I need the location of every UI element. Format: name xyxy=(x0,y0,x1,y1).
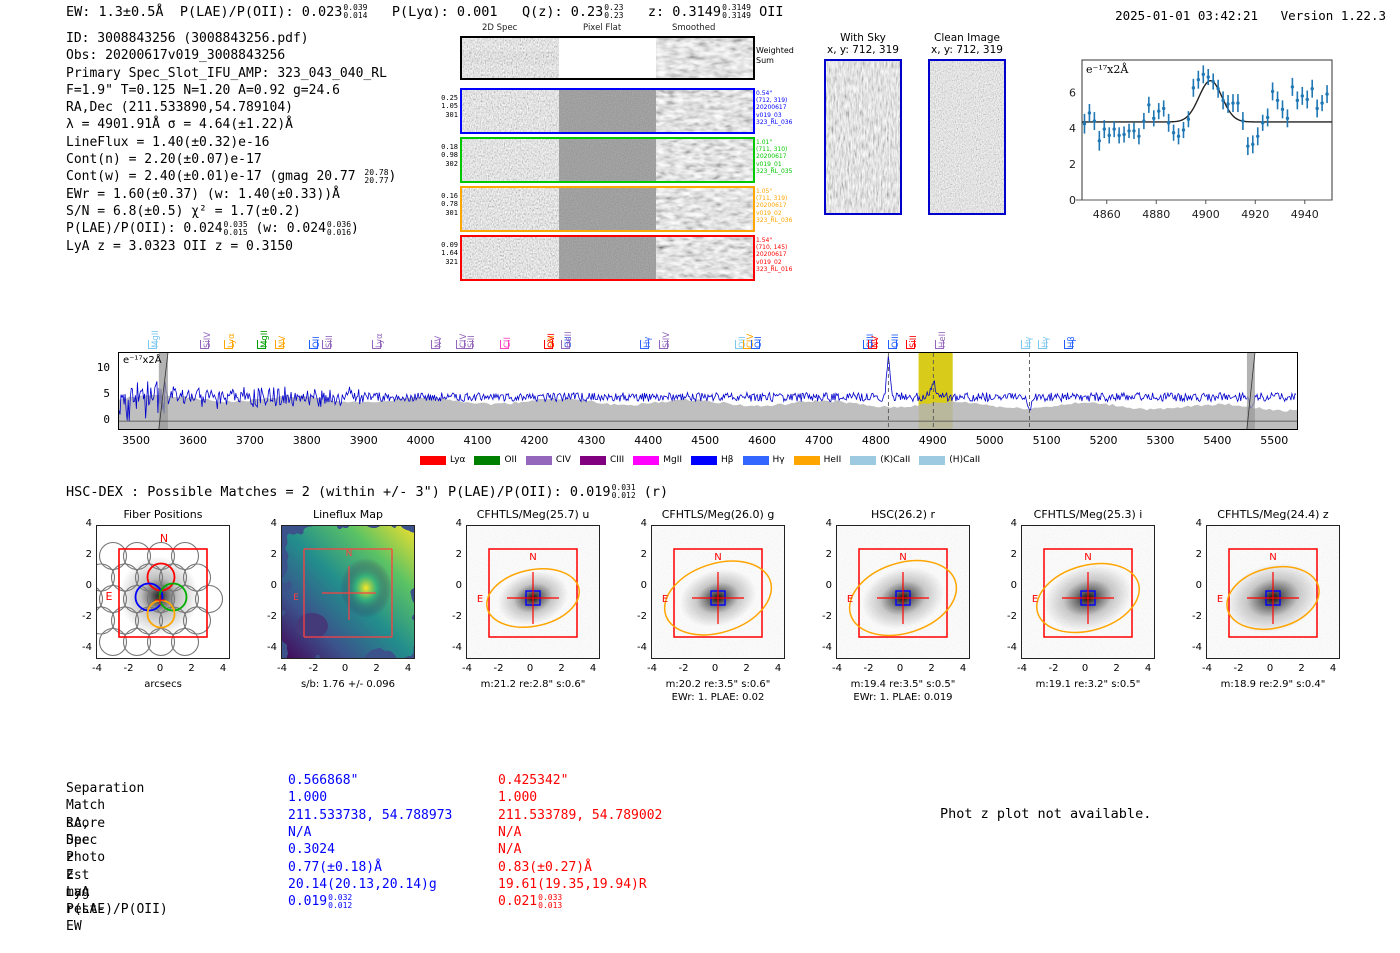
emission-line-bracket xyxy=(500,340,509,349)
fiber-meta-label: 0.54" xyxy=(756,90,792,97)
legend-item: Hβ xyxy=(691,455,734,465)
fiber-rows-container: 0.251.053010.54"(712, 319)20200617v019_0… xyxy=(460,88,755,281)
emission-line-bracket xyxy=(1038,340,1047,349)
spectrum-xtick: 3700 xyxy=(230,434,270,447)
cutout-xtick: -2 xyxy=(856,663,882,674)
header-z-label: z: xyxy=(648,4,664,20)
version: Version 1.22.3 xyxy=(1281,8,1386,23)
fiber-2dspec-3 xyxy=(462,188,559,230)
pixelflat-sum-blank xyxy=(559,38,656,78)
info-line-contw: Cont(w) = 2.40(±0.01)e-17 (gmag 20.77 20… xyxy=(66,168,396,185)
fiber-left-labels-4: 0.091.64321 xyxy=(441,241,458,266)
cutout-panel-5[interactable]: HSC(26.2) rNE420-2-4-4-2024m:19.4 re:3.5… xyxy=(808,508,973,521)
cutout-xtick: 0 xyxy=(517,663,543,674)
svg-text:4940: 4940 xyxy=(1291,208,1319,221)
cutout-panel-7[interactable]: CFHTLS/Meg(24.4) zNE420-2-4-4-2024m:18.9… xyxy=(1178,508,1343,521)
cutout-xtick: 2 xyxy=(734,663,760,674)
svg-text:E: E xyxy=(477,594,483,605)
cutout-ytick: 4 xyxy=(993,518,1017,529)
cutout-xtick: -4 xyxy=(84,663,110,674)
svg-text:N: N xyxy=(899,552,906,563)
cutout-xtick: -2 xyxy=(116,663,142,674)
cutout-xtick: -4 xyxy=(454,663,480,674)
noise-2dspec-sum xyxy=(462,38,559,78)
cutout-xtick: 4 xyxy=(395,663,421,674)
info-line-redshifts: LyA z = 3.0323 OII z = 0.3150 xyxy=(66,238,396,255)
fiber-pixelflat-2 xyxy=(559,139,656,181)
spectrum-xtick: 5500 xyxy=(1254,434,1294,447)
cutout-ytick: 0 xyxy=(993,580,1017,591)
cutout-image[interactable]: NE xyxy=(836,525,970,659)
legend-label: Hγ xyxy=(773,455,785,465)
match-plae-value: 0.021 xyxy=(498,894,537,909)
info-line-lineflux: LineFlux = 1.40(±0.32)e-16 xyxy=(66,134,396,151)
cutout-ytick: -2 xyxy=(808,611,832,622)
match-plae-value: 0.019 xyxy=(288,894,327,909)
withsky-coords: x, y: 712, 319 xyxy=(824,44,902,56)
spectrum-xtick: 4500 xyxy=(685,434,725,447)
emission-line-bracket xyxy=(322,340,331,349)
cutout-xtick: -4 xyxy=(824,663,850,674)
legend-swatch xyxy=(580,456,606,465)
emission-line-bracket xyxy=(464,340,473,349)
info-line-plae: P(LAE)/P(OII): 0.0240.0350.015 (w: 0.024… xyxy=(66,220,396,237)
svg-text:2: 2 xyxy=(1069,158,1076,171)
fiber-meta-label: 20200617 xyxy=(756,251,792,258)
cutout-title: CFHTLS/Meg(25.3) i xyxy=(1021,508,1155,521)
fiber-smoothed-2 xyxy=(656,139,753,181)
spectrum-xtick: 4000 xyxy=(401,434,441,447)
cutout-xtick: 0 xyxy=(702,663,728,674)
cutout-xtick: -2 xyxy=(1041,663,1067,674)
cutout-panel-3[interactable]: CFHTLS/Meg(25.7) uNE420-2-4-4-2024m:21.2… xyxy=(438,508,603,521)
svg-text:E: E xyxy=(106,590,113,603)
fiber-left-labels-1: 0.251.05301 xyxy=(441,94,458,119)
svg-text:4900: 4900 xyxy=(1192,208,1220,221)
info-line-ewr: EWr = 1.60(±0.37) (w: 1.40(±0.33))Å xyxy=(66,186,396,203)
match-row-value: 0.77(±0.18)Å xyxy=(288,859,382,876)
cutout-image[interactable]: NE xyxy=(1206,525,1340,659)
fiber-pixelflat-4 xyxy=(559,237,656,279)
cutout-xtick: 0 xyxy=(887,663,913,674)
fiber-right-labels-4: 1.54"(710, 145)20200617v019_02323_RL_016 xyxy=(756,237,792,273)
info-line-sn: S/N = 6.8(±0.5) χ² = 1.7(±0.2) xyxy=(66,203,396,220)
lineplot-units: e⁻¹⁷x2Å xyxy=(1086,62,1129,76)
svg-text:E: E xyxy=(662,594,668,605)
fiber-left-label: 302 xyxy=(441,160,458,168)
emission-line-bracket xyxy=(751,340,760,349)
legend-item: HeII xyxy=(794,455,842,465)
fiber-row-2: 0.180.983021.01"(711, 310)20200617v019_0… xyxy=(460,137,755,183)
info-line-obs: Obs: 20200617v019_3008843256 xyxy=(66,47,396,64)
spectrum-xtick: 4200 xyxy=(514,434,554,447)
header-z-value: 0.3149 xyxy=(672,4,721,20)
match-row-value: 0.0190.0320.012 xyxy=(288,893,352,910)
emission-line-labels: MgIISiIVLyαMgIINVOIISiIILyαNVCIVSiIICIIS… xyxy=(0,282,1400,354)
cutout-ytick: -2 xyxy=(993,611,1017,622)
spectrum-xtick: 3900 xyxy=(344,434,384,447)
cutout-image[interactable]: NE xyxy=(96,525,230,659)
emission-line-bracket xyxy=(200,340,209,349)
line-fit-plot: 024648604880490049204940e⁻¹⁷x2Å xyxy=(1040,48,1340,223)
fiber-right-labels-3: 1.05"(711, 319)20200617v019_02323_RL_036 xyxy=(756,188,792,224)
fiber-left-label: 321 xyxy=(441,258,458,266)
spectrum-xtick: 4400 xyxy=(628,434,668,447)
cleanimage-image xyxy=(928,59,1006,215)
fiber-meta-label: v019_02 xyxy=(756,210,792,217)
cutout-ytick: -4 xyxy=(438,642,462,653)
fiber-meta-label: (711, 310) xyxy=(756,146,792,153)
fiber-2dspec-4 xyxy=(462,237,559,279)
cutout-ytick: 2 xyxy=(253,549,277,560)
cutout-ytick: 2 xyxy=(993,549,1017,560)
emission-line-bracket xyxy=(257,340,266,349)
withsky-title: With Sky xyxy=(824,32,902,44)
cutout-ytick: 2 xyxy=(438,549,462,560)
legend-label: (H)CaII xyxy=(949,455,980,465)
col-header-smoothed: Smoothed xyxy=(672,23,715,33)
match-row-value: 20.14(20.13,20.14)g xyxy=(288,876,437,893)
legend-swatch xyxy=(633,456,659,465)
cutout-xtick: 2 xyxy=(364,663,390,674)
cutout-ytick: 0 xyxy=(808,580,832,591)
svg-text:N: N xyxy=(160,532,168,545)
weighted-sum-label-1: Weighted xyxy=(756,46,794,56)
fiber-smoothed-4 xyxy=(656,237,753,279)
cutout-xtick: 0 xyxy=(1072,663,1098,674)
fiber-meta-label: 20200617 xyxy=(756,104,792,111)
svg-text:4860: 4860 xyxy=(1093,208,1121,221)
fiber-meta-label: (710, 145) xyxy=(756,244,792,251)
legend-label: CIV xyxy=(556,455,571,465)
hscdex-summary: HSC-DEX : Possible Matches = 2 (within +… xyxy=(66,484,668,500)
cutout-ytick: 4 xyxy=(253,518,277,529)
cutout-xtick: -4 xyxy=(269,663,295,674)
spectrum-xtick: 4600 xyxy=(742,434,782,447)
spectrum-ytick: 10 xyxy=(97,361,110,374)
cutout-ytick: -2 xyxy=(438,611,462,622)
spectrum-xtick: 3500 xyxy=(116,434,156,447)
legend-swatch xyxy=(743,456,769,465)
cutout-xtick: 4 xyxy=(765,663,791,674)
info-line-slot: Primary Spec_Slot_IFU_AMP: 323_043_040_R… xyxy=(66,65,396,82)
emission-line-bracket xyxy=(906,340,915,349)
fiber-pixelflat-3 xyxy=(559,188,656,230)
fiber-meta-label: (712, 319) xyxy=(756,97,792,104)
cutout-image[interactable]: NE xyxy=(281,525,415,659)
cutout-title: CFHTLS/Meg(24.4) z xyxy=(1206,508,1340,521)
info-line-contn: Cont(n) = 2.20(±0.07)e-17 xyxy=(66,151,396,168)
spectrum-x-axis: 3500360037003800390040004100420043004400… xyxy=(0,432,1400,450)
cutout-xtick: -4 xyxy=(639,663,665,674)
spectrum-xtick: 5300 xyxy=(1140,434,1180,447)
fiber-left-label: 0.25 xyxy=(441,94,458,102)
cutout-xtick: 0 xyxy=(147,663,173,674)
timestamp: 2025-01-01 03:42:21 xyxy=(1115,8,1258,23)
svg-text:N: N xyxy=(529,552,536,563)
header-ew: EW: 1.3±0.5Å xyxy=(66,4,164,20)
spectrum-xtick: 3600 xyxy=(173,434,213,447)
fiber-meta-label: 323_RL_035 xyxy=(756,168,792,175)
legend-swatch xyxy=(919,456,945,465)
header-plae-value: 0.023 xyxy=(302,4,343,20)
fiber-pixelflat-1 xyxy=(559,90,656,132)
source-info-block: ID: 3008843256 (3008843256.pdf) Obs: 202… xyxy=(66,30,396,255)
header-z-lo: 0.3149 xyxy=(722,12,751,20)
cutout-title: HSC(26.2) r xyxy=(836,508,970,521)
header-qz-lo: 0.23 xyxy=(604,12,623,20)
emission-line-bracket xyxy=(640,340,649,349)
cutout-ytick: 4 xyxy=(623,518,647,529)
fiber-smoothed-3 xyxy=(656,188,753,230)
cutout-xtick: -4 xyxy=(1194,663,1220,674)
cleanimage-thumb: Clean Image x, y: 712, 319 xyxy=(928,32,1006,215)
fiber-meta-label: 1.05" xyxy=(756,188,792,195)
svg-text:E: E xyxy=(847,594,853,605)
match-row-value: N/A xyxy=(498,824,521,841)
cutout-ytick: 0 xyxy=(1178,580,1202,591)
timestamp-version: 2025-01-01 03:42:21 Version 1.22.3 xyxy=(1115,8,1386,23)
cutout-caption: m:20.2 re:3.5" s:0.6" xyxy=(623,679,813,691)
cutout-title: Lineflux Map xyxy=(281,508,415,521)
legend-label: OII xyxy=(504,455,516,465)
cutout-caption: s/b: 1.76 +/- 0.096 xyxy=(253,679,443,691)
cutout-panel-1[interactable]: Fiber PositionsNE420-2-4-4-2024arcsecs xyxy=(68,508,233,521)
fiber-meta-label: 1.54" xyxy=(756,237,792,244)
cutout-ytick: -4 xyxy=(623,642,647,653)
cutout-xtick: -2 xyxy=(671,663,697,674)
cutout-xtick: -4 xyxy=(1009,663,1035,674)
full-spectrum-plot: e⁻¹⁷x2Å xyxy=(118,352,1298,430)
cutout-xtick: 4 xyxy=(210,663,236,674)
legend-item: CIII xyxy=(580,455,624,465)
header-plae-label: P(LAE)/P(OII): xyxy=(180,4,294,20)
legend-swatch xyxy=(420,456,446,465)
hscdex-value: 0.019 xyxy=(570,484,611,500)
emission-line-bracket xyxy=(309,340,318,349)
svg-text:N: N xyxy=(1084,552,1091,563)
spectrum-xtick: 4100 xyxy=(458,434,498,447)
legend-label: Hβ xyxy=(721,455,734,465)
spectrum-xtick: 5000 xyxy=(970,434,1010,447)
svg-text:N: N xyxy=(714,552,721,563)
fiber-left-labels-2: 0.180.98302 xyxy=(441,143,458,168)
svg-text:4880: 4880 xyxy=(1142,208,1170,221)
emission-line-bracket xyxy=(1021,340,1030,349)
cutout-xtick: 0 xyxy=(332,663,358,674)
hscdex-prefix: HSC-DEX : Possible Matches = 2 (within +… xyxy=(66,484,570,500)
fiber-left-label: 1.64 xyxy=(441,249,458,257)
cutout-ytick: -4 xyxy=(1178,642,1202,653)
cutout-ytick: 4 xyxy=(68,518,92,529)
cutout-panel-2[interactable]: Lineflux MapNE420-2-4-4-2024s/b: 1.76 +/… xyxy=(253,508,418,521)
legend-item: OII xyxy=(474,455,516,465)
col-header-2dspec: 2D Spec xyxy=(482,23,517,33)
fiber-meta-label: 323_RL_036 xyxy=(756,217,792,224)
spectrum-y-axis: 0510 xyxy=(86,352,114,430)
svg-text:4920: 4920 xyxy=(1241,208,1269,221)
hscdex-suffix: (r) xyxy=(636,484,669,500)
fiber-2dspec-1 xyxy=(462,90,559,132)
fiber-left-label: 0.18 xyxy=(441,143,458,151)
fiber-meta-label: v019_02 xyxy=(756,259,792,266)
cutout-caption: m:21.2 re:2.8" s:0.6" xyxy=(438,679,628,691)
twod-spectrum-panel: 2D Spec Pixel Flat Smoothed Weighted Sum… xyxy=(460,36,755,284)
fiber-2dspec-2 xyxy=(462,139,559,181)
cutout-ytick: 4 xyxy=(438,518,462,529)
cutout-ytick: 2 xyxy=(808,549,832,560)
cutout-xtick: 4 xyxy=(580,663,606,674)
cutout-image[interactable]: NE xyxy=(466,525,600,659)
emission-line-bracket xyxy=(148,340,157,349)
header-plya: P(Lyα): 0.001 xyxy=(392,4,498,20)
emission-line-bracket xyxy=(544,340,553,349)
match-row-value: 211.533738, 54.788973 xyxy=(288,807,452,824)
fiber-meta-label: 20200617 xyxy=(756,153,792,160)
legend-item: (K)CaII xyxy=(850,455,910,465)
legend-label: CIII xyxy=(610,455,624,465)
info-line-params: F=1.9" T=0.125 N=1.20 A=0.92 g=24.6 xyxy=(66,82,396,99)
legend-label: Lyα xyxy=(450,455,465,465)
cutout-title: CFHTLS/Meg(25.7) u xyxy=(466,508,600,521)
match-row-value: 211.533789, 54.789002 xyxy=(498,807,662,824)
cutout-xtick: 0 xyxy=(1257,663,1283,674)
cutout-image[interactable]: NE xyxy=(651,525,785,659)
withsky-image xyxy=(824,59,902,215)
withsky-thumb: With Sky x, y: 712, 319 xyxy=(824,32,902,215)
fiber-row-3: 0.160.783011.05"(711, 319)20200617v019_0… xyxy=(460,186,755,232)
header-z-type: OII xyxy=(759,4,783,20)
col-header-pixelflat: Pixel Flat xyxy=(583,23,621,33)
info-line-lambda: λ = 4901.91Å σ = 4.64(±1.22)Å xyxy=(66,116,396,133)
cutout-caption-2: EWr: 1. PLAE: 0.02 xyxy=(623,692,813,704)
spectrum-xtick: 4800 xyxy=(856,434,896,447)
match-row-label: P(LAE)/P(OII) xyxy=(66,901,168,918)
legend-item: CIV xyxy=(526,455,571,465)
match-row-value: 0.3024 xyxy=(288,841,335,858)
legend-label: MgII xyxy=(663,455,682,465)
fiber-row-1: 0.251.053010.54"(712, 319)20200617v019_0… xyxy=(460,88,755,134)
fiber-left-label: 0.09 xyxy=(441,241,458,249)
cutout-xtick: 2 xyxy=(179,663,205,674)
info-line-id: ID: 3008843256 (3008843256.pdf) xyxy=(66,30,396,47)
header-qz-value: 0.23 xyxy=(571,4,604,20)
summary-header: EW: 1.3±0.5Å P(LAE)/P(OII): 0.0230.0390.… xyxy=(66,4,784,20)
cutout-caption: m:19.4 re:3.5" s:0.5" xyxy=(808,679,998,691)
spectrum-legend: LyαOIICIVCIIIMgIIHβHγHeII(K)CaII(H)CaII xyxy=(420,455,980,465)
cutout-xtick: 2 xyxy=(1104,663,1130,674)
fiber-meta-label: (711, 319) xyxy=(756,195,792,202)
match-row-value: 0.566868" xyxy=(288,772,358,789)
match-row-value: 0.0210.0330.013 xyxy=(498,893,562,910)
cutout-xtick: 4 xyxy=(1135,663,1161,674)
fiber-meta-label: 323_RL_036 xyxy=(756,119,792,126)
legend-item: Lyα xyxy=(420,455,465,465)
cutout-ytick: 0 xyxy=(623,580,647,591)
match-row-value: N/A xyxy=(498,841,521,858)
cleanimage-coords: x, y: 712, 319 xyxy=(928,44,1006,56)
svg-text:E: E xyxy=(293,593,299,603)
legend-item: (H)CaII xyxy=(919,455,980,465)
cutout-title: CFHTLS/Meg(26.0) g xyxy=(651,508,785,521)
legend-swatch xyxy=(691,456,717,465)
cutout-xtick: -2 xyxy=(1226,663,1252,674)
svg-text:E: E xyxy=(1032,594,1038,605)
fiber-smoothed-1 xyxy=(656,90,753,132)
cutout-ytick: 2 xyxy=(623,549,647,560)
emission-line-bracket xyxy=(659,340,668,349)
emission-line-bracket xyxy=(888,340,897,349)
info-line-radec: RA,Dec (211.533890,54.789104) xyxy=(66,99,396,116)
cutout-ytick: 2 xyxy=(1178,549,1202,560)
cutout-ytick: 4 xyxy=(808,518,832,529)
fiber-left-label: 301 xyxy=(441,111,458,119)
cleanimage-title: Clean Image xyxy=(928,32,1006,44)
emission-line-bracket xyxy=(1064,340,1073,349)
smoothed-sum xyxy=(656,38,753,78)
legend-item: MgII xyxy=(633,455,682,465)
weighted-sum-label-2: Sum xyxy=(756,56,794,66)
spectrum-xtick: 4700 xyxy=(799,434,839,447)
svg-text:4: 4 xyxy=(1069,122,1076,135)
fiber-left-label: 301 xyxy=(441,209,458,217)
match-row-label: mag xyxy=(66,884,89,901)
match-row-value: N/A xyxy=(288,824,311,841)
emission-line-bracket xyxy=(372,340,381,349)
fiber-meta-label: 20200617 xyxy=(756,202,792,209)
spec-row-summary: Weighted Sum xyxy=(460,36,755,80)
legend-swatch xyxy=(526,456,552,465)
spectrum-ytick: 5 xyxy=(103,387,110,400)
cutout-ytick: -2 xyxy=(1178,611,1202,622)
spectrum-xtick: 3800 xyxy=(287,434,327,447)
spectrum-units: e⁻¹⁷x2Å xyxy=(123,355,162,366)
fiber-left-label: 0.98 xyxy=(441,151,458,159)
legend-swatch xyxy=(794,456,820,465)
cutout-panel-4[interactable]: CFHTLS/Meg(26.0) gNE420-2-4-4-2024m:20.2… xyxy=(623,508,788,521)
cutout-ytick: -4 xyxy=(993,642,1017,653)
cutout-image[interactable]: NE xyxy=(1021,525,1155,659)
cutout-title: Fiber Positions xyxy=(96,508,230,521)
cutout-panel-6[interactable]: CFHTLS/Meg(25.3) iNE420-2-4-4-2024m:19.1… xyxy=(993,508,1158,521)
fiber-left-labels-3: 0.160.78301 xyxy=(441,192,458,217)
legend-label: (K)CaII xyxy=(880,455,910,465)
cutout-xtick: 4 xyxy=(950,663,976,674)
cutout-ytick: 2 xyxy=(68,549,92,560)
cutout-ytick: -2 xyxy=(253,611,277,622)
legend-swatch xyxy=(474,456,500,465)
cutout-caption: m:18.9 re:2.9" s:0.4" xyxy=(1178,679,1368,691)
fiber-meta-label: v019_03 xyxy=(756,112,792,119)
cutout-ytick: 0 xyxy=(253,580,277,591)
spectrum-xtick: 4300 xyxy=(571,434,611,447)
svg-text:N: N xyxy=(1269,552,1276,563)
cutout-caption-2: EWr: 1. PLAE: 0.019 xyxy=(808,692,998,704)
header-qz-label: Q(z): xyxy=(522,4,563,20)
match-plae-lo: 0.012 xyxy=(328,902,352,910)
cutout-ytick: -2 xyxy=(68,611,92,622)
svg-text:6: 6 xyxy=(1069,86,1076,99)
match-row-value: 19.61(19.35,19.94)R xyxy=(498,876,647,893)
cutout-xtick: -2 xyxy=(486,663,512,674)
match-row-value: 0.83(±0.27)Å xyxy=(498,859,592,876)
cutout-xtick: -2 xyxy=(301,663,327,674)
fiber-meta-label: 1.01" xyxy=(756,139,792,146)
emission-line-bracket xyxy=(275,340,284,349)
match-plae-lo: 0.013 xyxy=(538,902,562,910)
fiber-meta-label: v019_01 xyxy=(756,161,792,168)
emission-line-bracket xyxy=(431,340,440,349)
